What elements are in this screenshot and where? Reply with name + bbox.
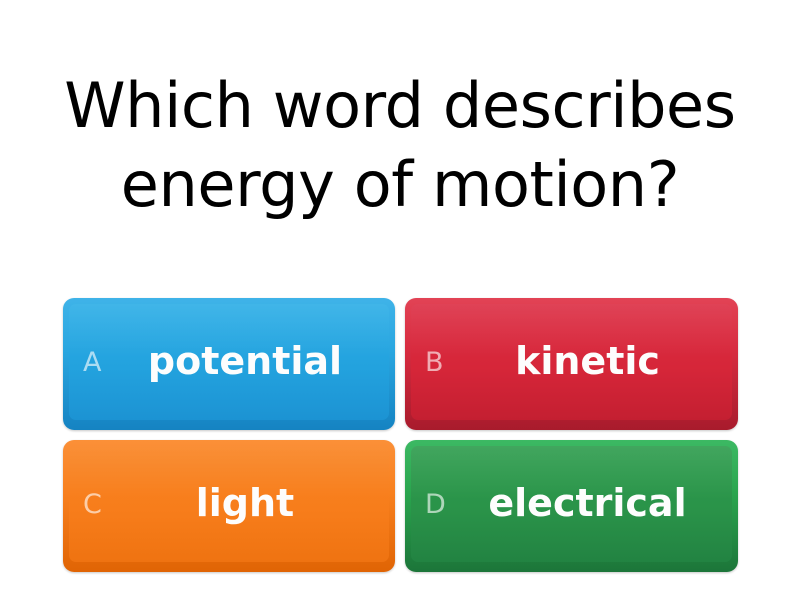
answer-option-b-letter: B	[425, 349, 459, 376]
answer-option-d-letter: D	[425, 491, 459, 518]
answer-option-b[interactable]: B kinetic	[405, 298, 738, 430]
answer-option-c[interactable]: C light	[63, 440, 395, 572]
question-area: Which word describes energy of motion?	[20, 0, 780, 290]
answer-option-c-face: C light	[69, 446, 389, 562]
answer-option-a-letter: A	[83, 349, 117, 376]
answer-option-d[interactable]: D electrical	[405, 440, 738, 572]
answer-option-b-face: B kinetic	[411, 304, 732, 420]
answer-option-d-label: electrical	[459, 483, 722, 525]
quiz-slide: Which word describes energy of motion? A…	[0, 0, 800, 600]
answer-option-a[interactable]: A potential	[63, 298, 395, 430]
answer-option-d-face: D electrical	[411, 446, 732, 562]
answer-option-a-label: potential	[117, 341, 379, 383]
answer-option-a-face: A potential	[69, 304, 389, 420]
answer-option-b-label: kinetic	[459, 341, 722, 383]
question-text: Which word describes energy of motion?	[50, 66, 750, 225]
answer-option-c-label: light	[117, 483, 379, 525]
answer-options-grid: A potential B kinetic C light D electric…	[63, 298, 738, 573]
answer-option-c-letter: C	[83, 491, 117, 518]
